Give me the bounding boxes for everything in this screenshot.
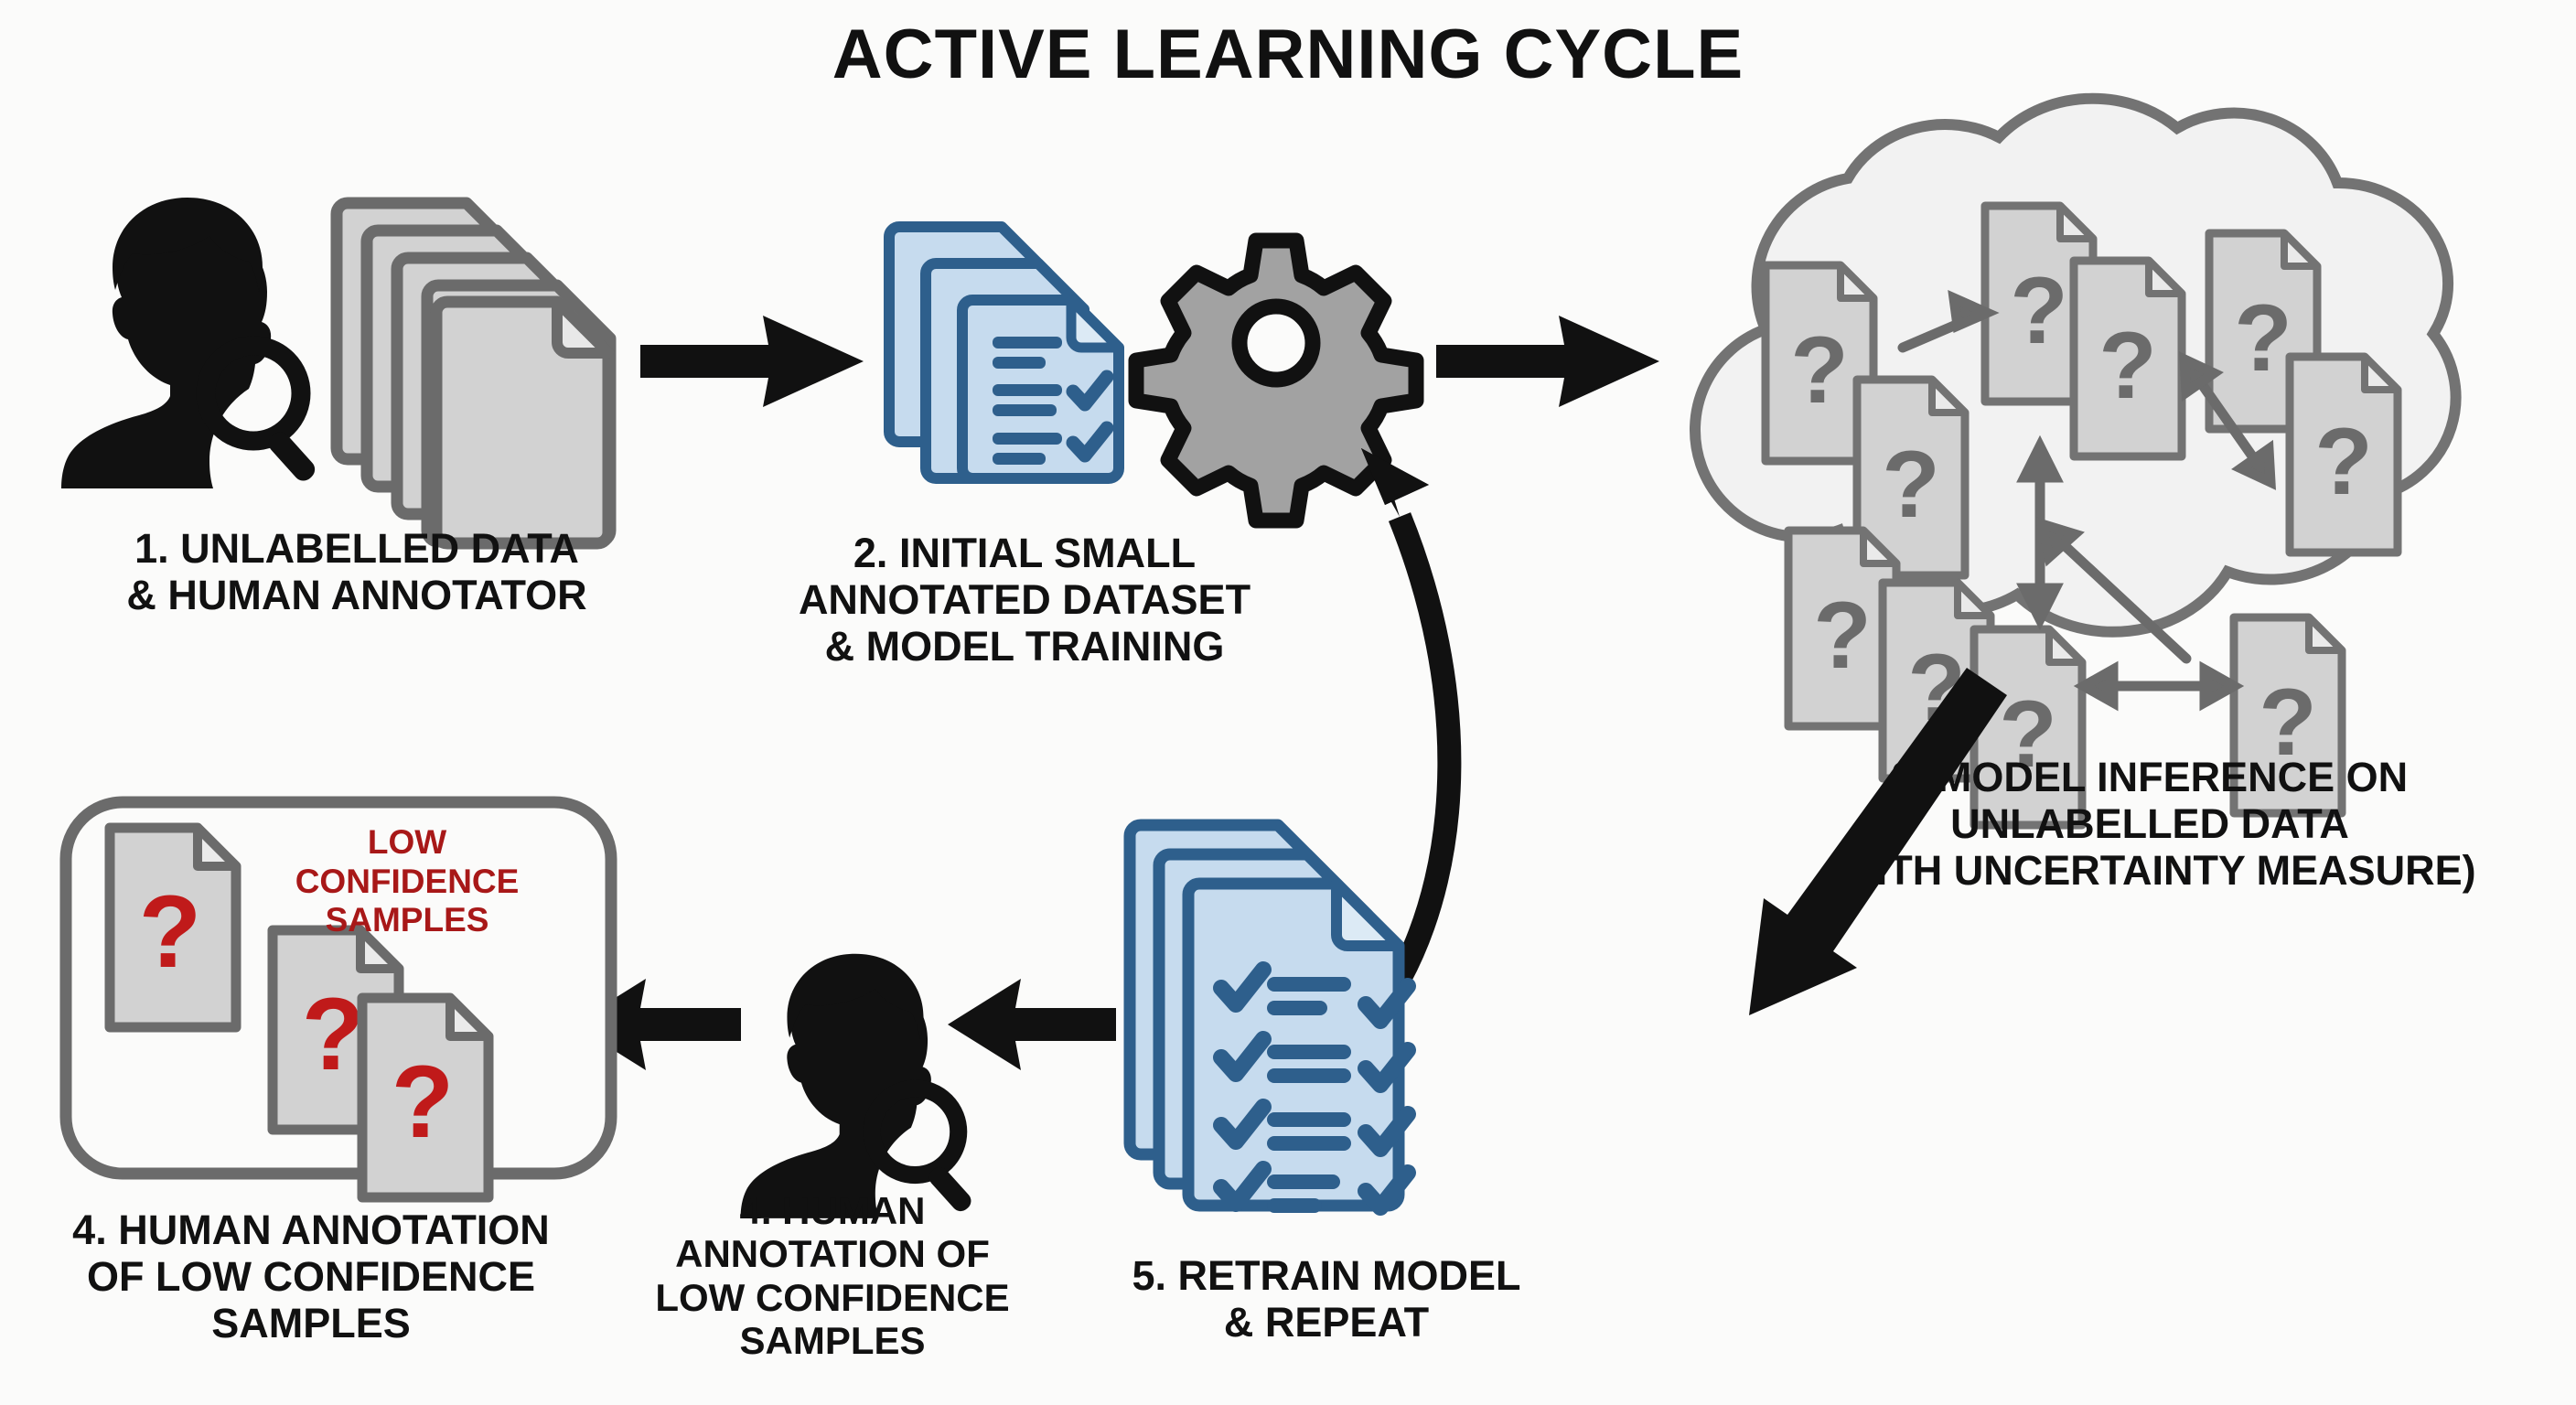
- human-annotator-icon: [50, 165, 352, 485]
- svg-text:?: ?: [1882, 432, 1940, 538]
- page-title: ACTIVE LEARNING CYCLE: [0, 15, 2576, 94]
- svg-text:?: ?: [2314, 409, 2373, 515]
- step-4b-caption: 4. HUMAN ANNOTATION OF LOW CONFIDENCE SA…: [604, 1189, 1061, 1363]
- arrow-cloud-to-step5: [1665, 659, 2049, 1024]
- unlabelled-document-stack-icon: [320, 174, 631, 503]
- svg-text:?: ?: [2010, 258, 2068, 364]
- step-5-caption: 5. RETRAIN MODEL & REPEAT: [1070, 1253, 1583, 1346]
- svg-text:?: ?: [302, 977, 364, 1091]
- step-4a-caption: 4. HUMAN ANNOTATION OF LOW CONFIDENCE SA…: [0, 1207, 622, 1347]
- annotated-document-stack-icon: [874, 210, 1166, 494]
- svg-text:?: ?: [392, 1045, 454, 1159]
- human-annotator-icon-2: [723, 924, 988, 1198]
- step-1-caption: 1. UNLABELLED DATA & HUMAN ANNOTATOR: [18, 526, 695, 619]
- low-confidence-label: LOW CONFIDENCE SAMPLES: [274, 823, 540, 940]
- gear-icon: [1154, 221, 1398, 465]
- cloud-icon: ? ? ? ?: [1628, 101, 2571, 741]
- retrained-checklist-stack-icon: [1121, 814, 1505, 1226]
- diagram-canvas: ACTIVE LEARNING CYCLE 1. UNLABELLED DATA…: [0, 0, 2576, 1405]
- svg-text:?: ?: [139, 874, 201, 989]
- arrow-step1-to-step2: [631, 306, 887, 416]
- svg-text:?: ?: [2098, 313, 2157, 419]
- step-2-caption: 2. INITIAL SMALL ANNOTATED DATASET & MOD…: [723, 531, 1326, 670]
- svg-text:?: ?: [2234, 285, 2292, 391]
- svg-text:?: ?: [1790, 317, 1849, 424]
